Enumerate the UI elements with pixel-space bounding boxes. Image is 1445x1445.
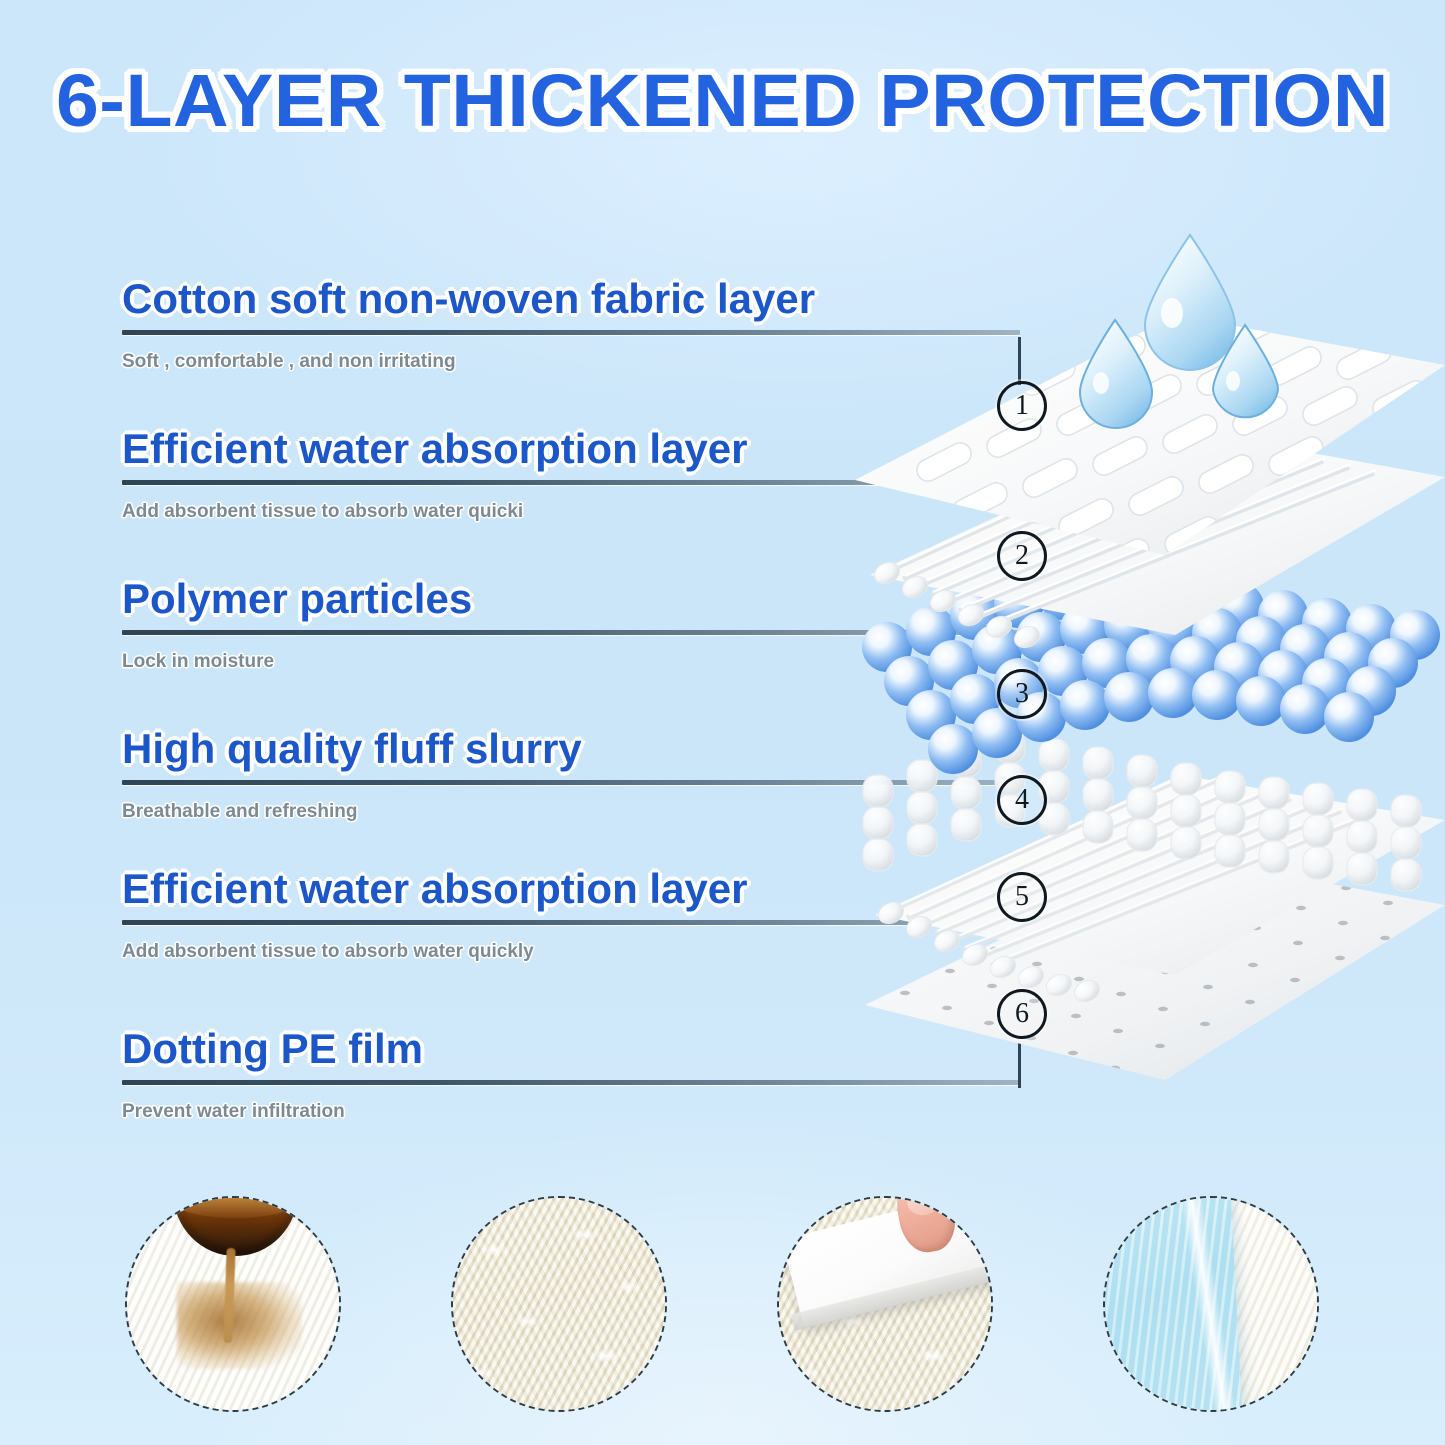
callout-number-5[interactable]: 5 [997, 872, 1047, 922]
demo-photo-3-image [777, 1196, 993, 1412]
demo-photo-liquid-absorption [125, 1196, 341, 1412]
infographic-canvas: 6-LAYER THICKENED PROTECTION Cotton soft… [0, 0, 1445, 1445]
water-droplet-icon [1145, 235, 1235, 370]
demo-photo-4-image [1103, 1196, 1319, 1412]
demo-photo-2-image [451, 1196, 667, 1412]
demo-photo-fluff-texture [451, 1196, 667, 1412]
demo-photo-blue-backsheet [1103, 1196, 1319, 1412]
page-title: 6-LAYER THICKENED PROTECTION [0, 58, 1445, 143]
callout-number-2[interactable]: 2 [997, 531, 1047, 581]
layer-stack-svg [845, 215, 1445, 1175]
product-layer-illustration [845, 215, 1445, 1175]
callout-number-1[interactable]: 1 [997, 381, 1047, 431]
demo-photo-1-image [125, 1196, 341, 1412]
callout-number-6[interactable]: 6 [997, 989, 1047, 1039]
demo-photo-layer-peel [777, 1196, 993, 1412]
callout-number-4[interactable]: 4 [997, 775, 1047, 825]
callout-number-3[interactable]: 3 [997, 669, 1047, 719]
